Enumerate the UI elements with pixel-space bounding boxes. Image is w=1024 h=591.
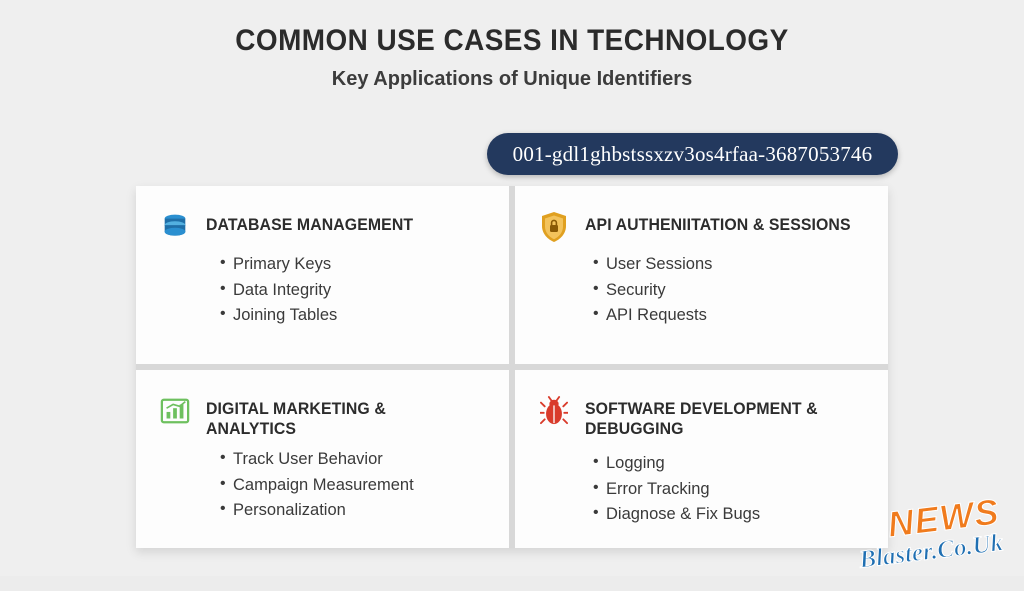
list-item: Security [593, 278, 866, 304]
card-header: DIGITAL MARKETING & ANALYTICS [158, 394, 487, 439]
use-case-card-database-management[interactable]: DATABASE MANAGEMENT Primary Keys Data In… [136, 186, 509, 364]
shield-icon [537, 210, 571, 244]
list-item: Campaign Measurement [220, 473, 487, 499]
list-item: User Sessions [593, 252, 866, 278]
use-case-grid: DATABASE MANAGEMENT Primary Keys Data In… [136, 186, 888, 548]
list-item: Data Integrity [220, 278, 487, 304]
page-subtitle: Key Applications of Unique Identifiers [0, 68, 1024, 91]
bug-icon [537, 394, 571, 428]
list-item: Primary Keys [220, 252, 487, 278]
card-title: DATABASE MANAGEMENT [206, 210, 413, 235]
card-title: DIGITAL MARKETING & ANALYTICS [206, 394, 476, 439]
identifier-value: 001-gdl1ghbstssxzv3os4rfaa-3687053746 [513, 142, 873, 167]
card-header: SOFTWARE DEVELOPMENT & DEBUGGING [537, 394, 866, 439]
bar-chart-icon [158, 394, 192, 428]
list-item: Error Tracking [593, 477, 866, 503]
slide-canvas: COMMON USE CASES IN TECHNOLOGY Key Appli… [0, 0, 1024, 576]
list-item: Joining Tables [220, 303, 487, 329]
card-bullet-list: Primary Keys Data Integrity Joining Tabl… [158, 252, 487, 329]
title-block: COMMON USE CASES IN TECHNOLOGY Key Appli… [0, 24, 1024, 91]
card-bullet-list: Track User Behavior Campaign Measurement… [158, 447, 487, 524]
card-bullet-list: User Sessions Security API Requests [537, 252, 866, 329]
page-title: COMMON USE CASES IN TECHNOLOGY [36, 24, 988, 58]
card-title: SOFTWARE DEVELOPMENT & DEBUGGING [585, 394, 855, 439]
card-title: API AUTHENIITATION & SESSIONS [585, 210, 851, 235]
list-item: Logging [593, 451, 866, 477]
list-item: API Requests [593, 303, 866, 329]
card-header: API AUTHENIITATION & SESSIONS [537, 210, 866, 244]
card-header: DATABASE MANAGEMENT [158, 210, 487, 244]
database-icon [158, 210, 192, 244]
list-item: Personalization [220, 498, 487, 524]
identifier-badge: 001-gdl1ghbstssxzv3os4rfaa-3687053746 [487, 133, 898, 175]
use-case-card-api-authentication[interactable]: API AUTHENIITATION & SESSIONS User Sessi… [515, 186, 888, 364]
list-item: Track User Behavior [220, 447, 487, 473]
use-case-card-digital-marketing[interactable]: DIGITAL MARKETING & ANALYTICS Track User… [136, 370, 509, 548]
